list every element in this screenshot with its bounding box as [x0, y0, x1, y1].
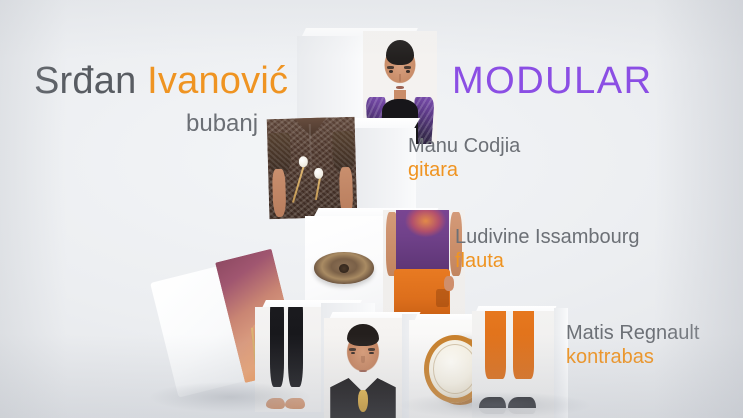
shirt-placket: [309, 124, 314, 218]
hand: [444, 276, 455, 291]
poster: Srđan Ivanović bubanj MODULAR Manu Codji…: [0, 0, 743, 418]
band-name: MODULAR: [452, 62, 653, 100]
pant-leg-right: [513, 311, 534, 379]
tank-photo: [383, 210, 465, 320]
cube-cymbal-right-face: [383, 210, 465, 320]
member-3-name: Matis Regnault: [566, 322, 699, 346]
eye-left: [351, 352, 355, 354]
gold-chain: [358, 390, 367, 412]
cymbal-icon: [314, 252, 373, 283]
nose: [399, 74, 402, 82]
title-first-name: Srđan: [34, 60, 136, 102]
cube-legs-front-face: [255, 307, 321, 412]
cube-face-front-face: [324, 318, 402, 418]
member-2-name: Ludivine Issambourg: [455, 226, 640, 250]
cube-sneakers: [472, 306, 568, 418]
eye-right: [406, 70, 410, 73]
member-3: Matis Regnault kontrabas: [566, 322, 699, 369]
brow-right: [404, 66, 411, 69]
cube-mallets-front-face: [267, 117, 358, 219]
member-2: Ludivine Issambourg flauta: [455, 226, 640, 273]
nose: [361, 356, 364, 363]
brow-left: [387, 66, 394, 69]
member-1: Manu Codjia gitara: [408, 135, 520, 182]
cube-sneakers-front-face: [472, 311, 554, 418]
pants-pocket: [436, 289, 449, 307]
title-last-name: Ivanović: [147, 60, 288, 102]
eye-left: [389, 70, 393, 73]
legs-photo: [255, 307, 321, 412]
sneakers-photo: [472, 311, 554, 418]
member-1-instrument: gitara: [408, 159, 520, 183]
mouth: [396, 86, 403, 89]
member-3-instrument: kontrabas: [566, 346, 699, 370]
eye-right: [369, 352, 373, 354]
face-photo: [324, 318, 402, 418]
brow-right: [368, 348, 375, 351]
title-role: bubanj: [186, 112, 258, 136]
sneaker-right: [508, 397, 536, 414]
hair: [386, 40, 414, 65]
mallet-head-2: [314, 168, 324, 179]
cube-mallets-right-face: [352, 128, 416, 216]
arm-left: [272, 169, 287, 217]
member-2-instrument: flauta: [455, 250, 640, 274]
member-1-name: Manu Codjia: [408, 135, 520, 159]
mallet-stick-1: [292, 164, 305, 203]
sneaker-left: [479, 397, 507, 414]
pant-leg-left: [485, 311, 506, 379]
purple-tank-top: [396, 210, 448, 272]
mallet-head-1: [298, 156, 308, 167]
foot-left: [266, 398, 286, 409]
hair: [347, 324, 378, 346]
brow-left: [349, 348, 356, 351]
foot-right: [285, 398, 305, 409]
leg-right: [288, 307, 303, 387]
cube-mallets: [268, 118, 416, 218]
page-title: Srđan Ivanović: [34, 62, 288, 100]
mallets-photo: [267, 117, 358, 219]
mouth: [359, 370, 367, 372]
leg-left: [270, 307, 285, 387]
